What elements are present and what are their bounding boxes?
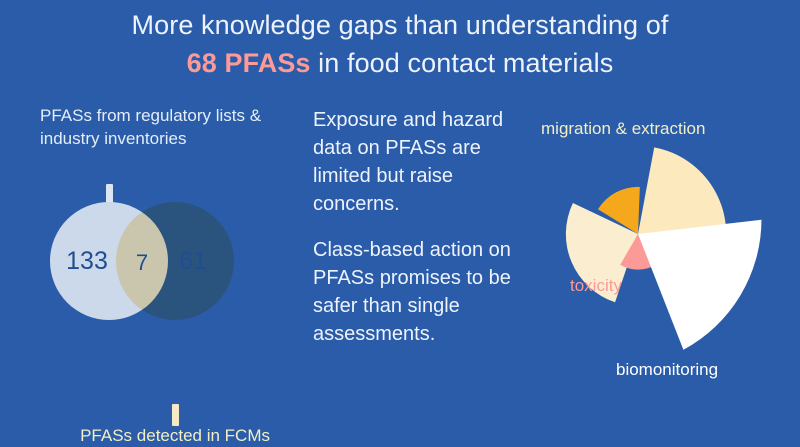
venn-count-overlap: 7 — [124, 250, 160, 275]
title-line-1: More knowledge gaps than understanding o… — [0, 8, 800, 42]
venn-bottom-label: PFASs detected in FCMs — [22, 424, 270, 447]
statement-exposure-hazard: Exposure and hazard data on PFASs are li… — [313, 106, 528, 218]
venn-count-left-only: 133 — [56, 249, 118, 274]
infographic-canvas: More knowledge gaps than understanding o… — [0, 0, 800, 432]
venn-top-label: PFASs from regulatory lists & industry i… — [40, 104, 280, 150]
statements-column: Exposure and hazard data on PFASs are li… — [313, 106, 528, 348]
title-accent-pfas-count: 68 PFASs — [187, 48, 311, 78]
rose-chart: migration & extraction toxicity biomonit… — [520, 104, 800, 424]
rose-label-toxicity: toxicity — [570, 275, 622, 297]
rose-label-biomonitoring: biomonitoring — [616, 359, 718, 381]
venn-bottom-connector — [172, 404, 179, 426]
title-line-2-rest: in food contact materials — [311, 48, 614, 78]
venn-diagram: PFASs from regulatory lists & industry i… — [12, 104, 292, 424]
rose-label-migration-extraction: migration & extraction — [541, 118, 705, 140]
page-title: More knowledge gaps than understanding o… — [0, 8, 800, 80]
statement-class-based-action: Class-based action on PFASs promises to … — [313, 236, 528, 348]
title-line-2: 68 PFASs in food contact materials — [0, 46, 800, 80]
venn-count-right-only: 61 — [162, 249, 224, 274]
